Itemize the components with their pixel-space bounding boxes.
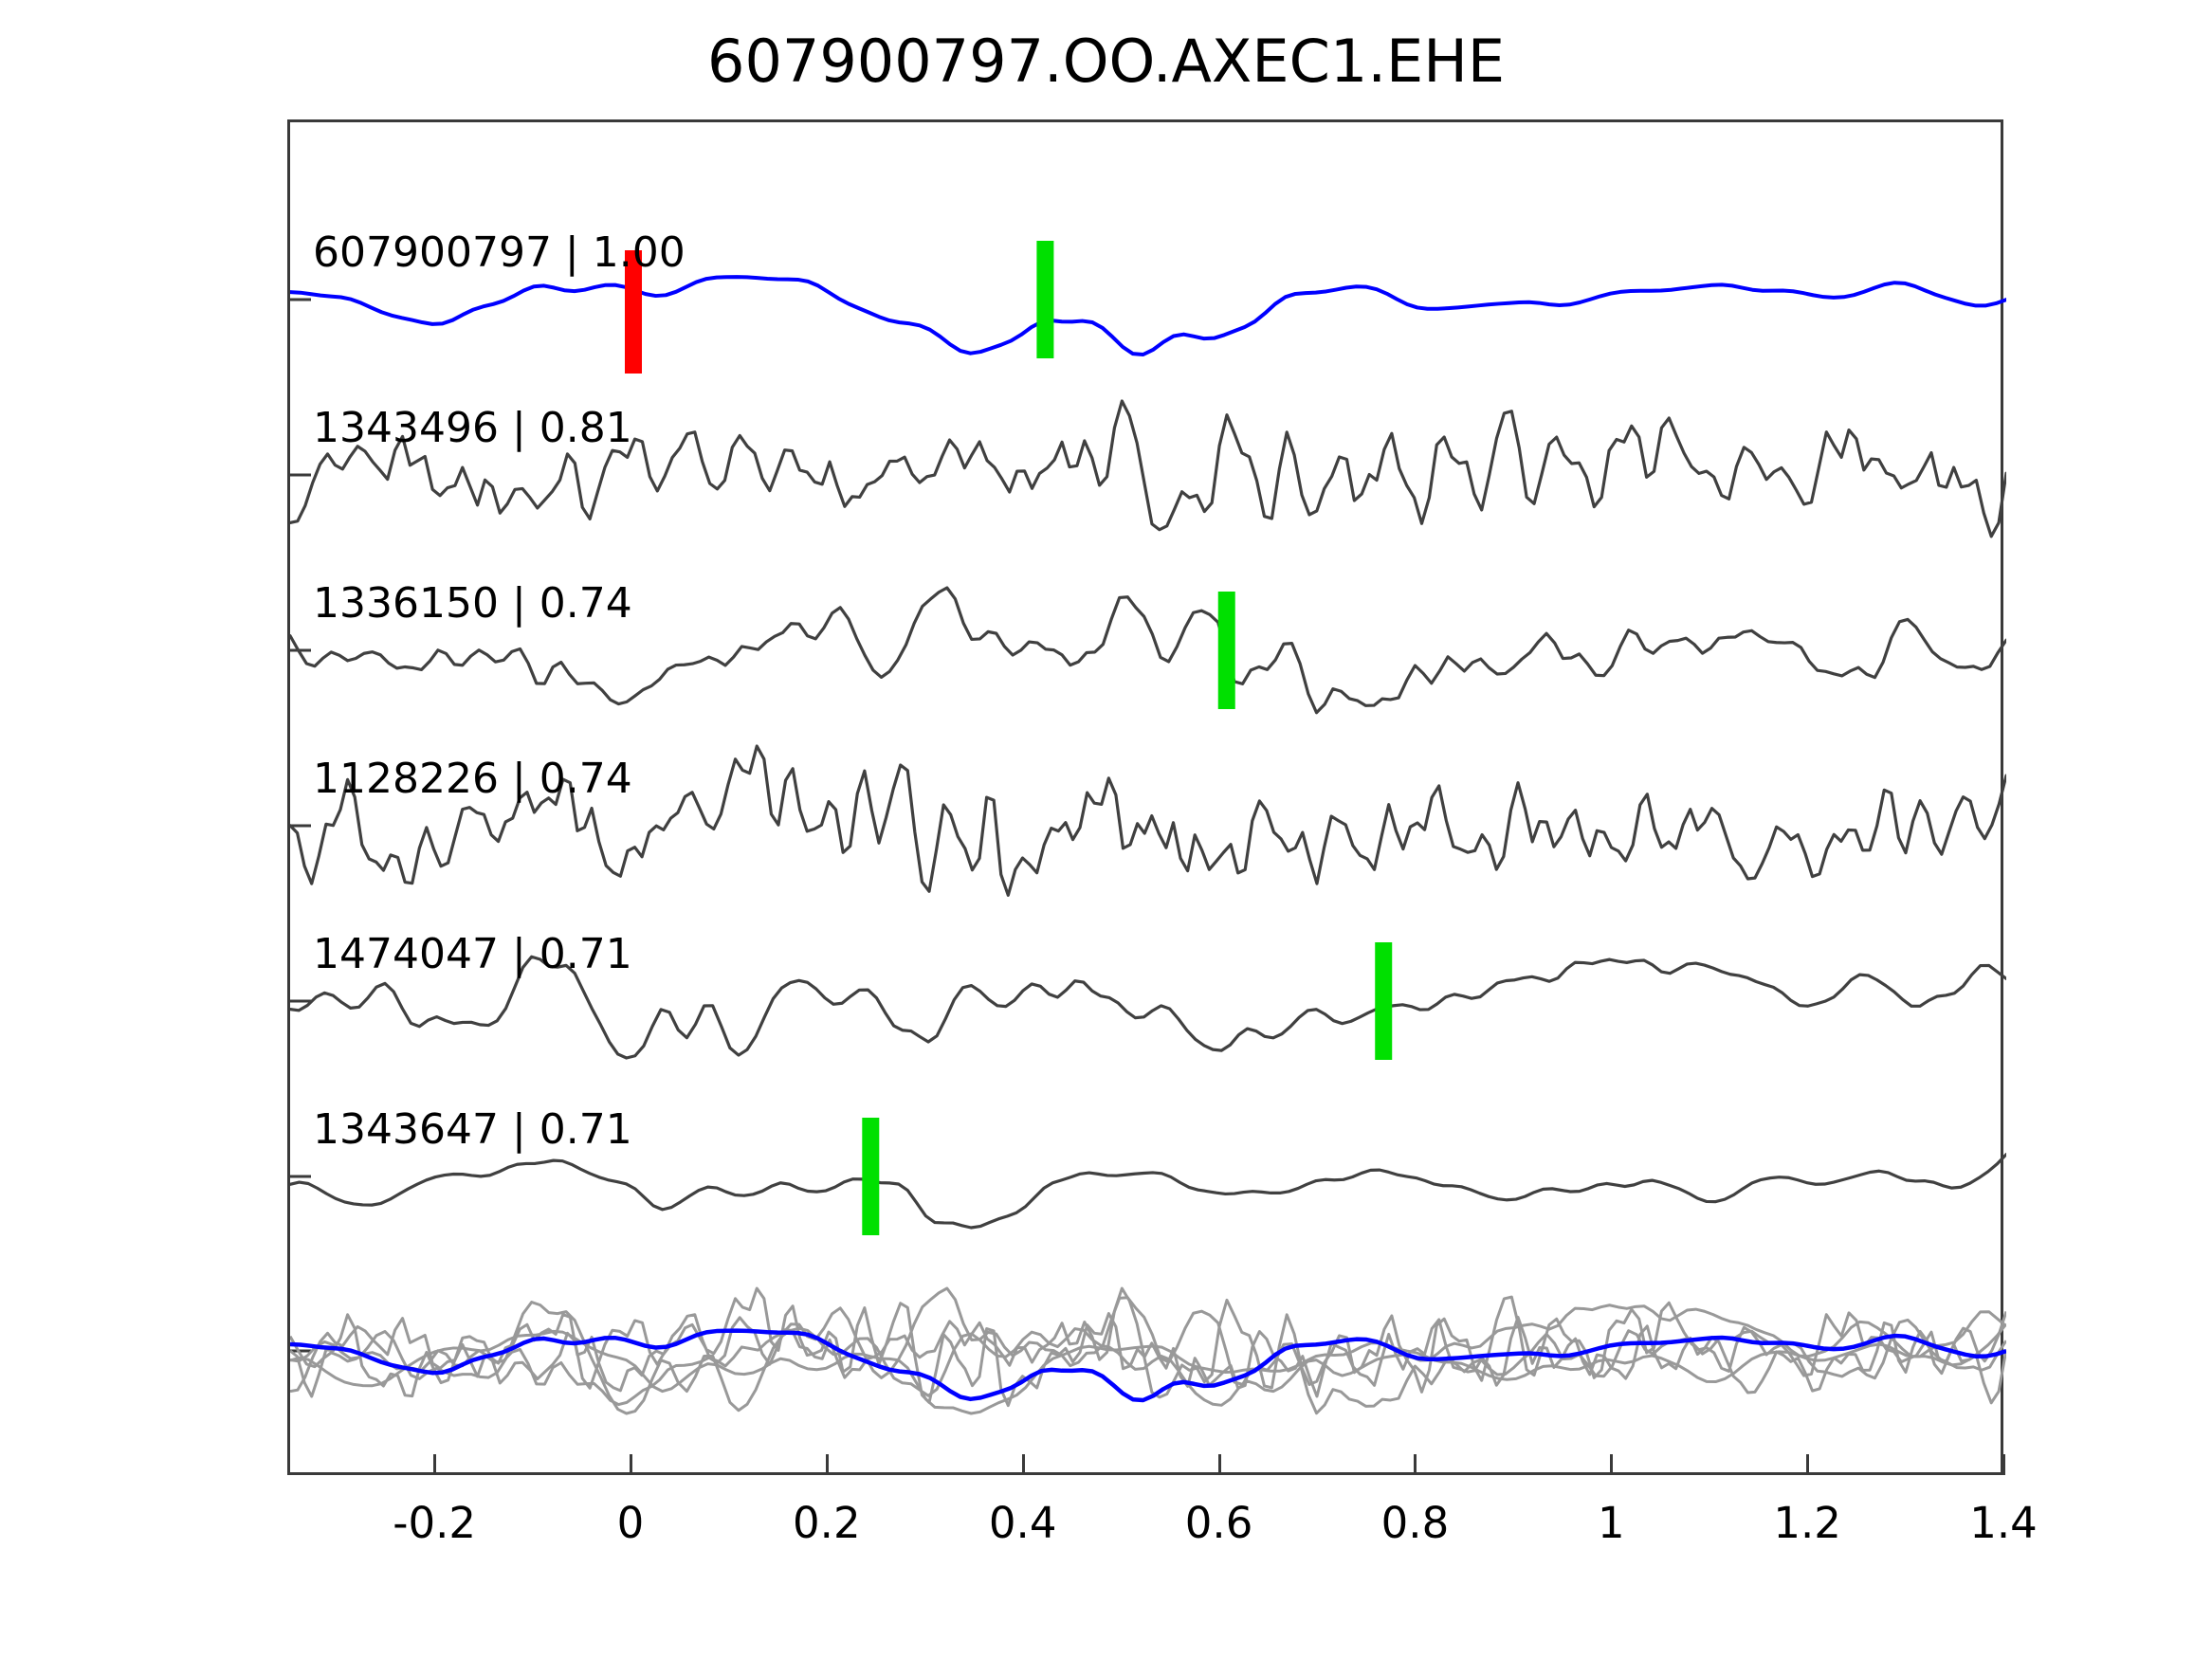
figure-canvas: 607900797.OO.AXEC1.EHE 607900797 | 1.00 … <box>0 0 2212 1659</box>
x-tick-label: 1.4 <box>1969 1498 2038 1548</box>
x-tick-label: 0.2 <box>793 1498 861 1548</box>
x-tick-mark <box>630 1454 632 1475</box>
x-tick-mark <box>1610 1454 1613 1475</box>
trace-label-2: 1336150 | 0.74 <box>313 583 632 625</box>
waveform-trace-0 <box>290 277 2006 355</box>
page-title: 607900797.OO.AXEC1.EHE <box>0 27 2212 96</box>
trace-label-0: 607900797 | 1.00 <box>313 232 686 274</box>
trace-label-4: 1474047 | 0.71 <box>313 934 632 975</box>
x-tick-label: 0.6 <box>1185 1498 1253 1548</box>
x-tick-mark <box>1414 1454 1417 1475</box>
x-tick-label: 1.2 <box>1773 1498 1841 1548</box>
trace-label-1: 1343496 | 0.81 <box>313 408 632 449</box>
s-pick-marker <box>1036 241 1053 358</box>
x-tick-mark <box>2002 1454 2005 1475</box>
x-tick-mark <box>1218 1454 1221 1475</box>
x-tick-label: 1 <box>1598 1498 1625 1548</box>
x-tick-mark <box>826 1454 829 1475</box>
trace-label-5: 1343647 | 0.71 <box>313 1109 632 1151</box>
x-tick-mark <box>1806 1454 1809 1475</box>
s-pick-marker <box>1218 592 1235 709</box>
x-tick-mark <box>1022 1454 1025 1475</box>
x-tick-label: 0.4 <box>989 1498 1057 1548</box>
s-pick-marker <box>862 1118 879 1235</box>
x-tick-mark <box>433 1454 436 1475</box>
x-tick-label: 0 <box>617 1498 645 1548</box>
stack-overlay-panel <box>290 1288 2006 1413</box>
s-pick-marker <box>1375 942 1392 1060</box>
trace-label-3: 1128226 | 0.74 <box>313 758 632 800</box>
waveform-trace-5 <box>290 1155 2006 1228</box>
x-tick-label: -0.2 <box>393 1498 476 1548</box>
x-tick-label: 0.8 <box>1381 1498 1450 1548</box>
